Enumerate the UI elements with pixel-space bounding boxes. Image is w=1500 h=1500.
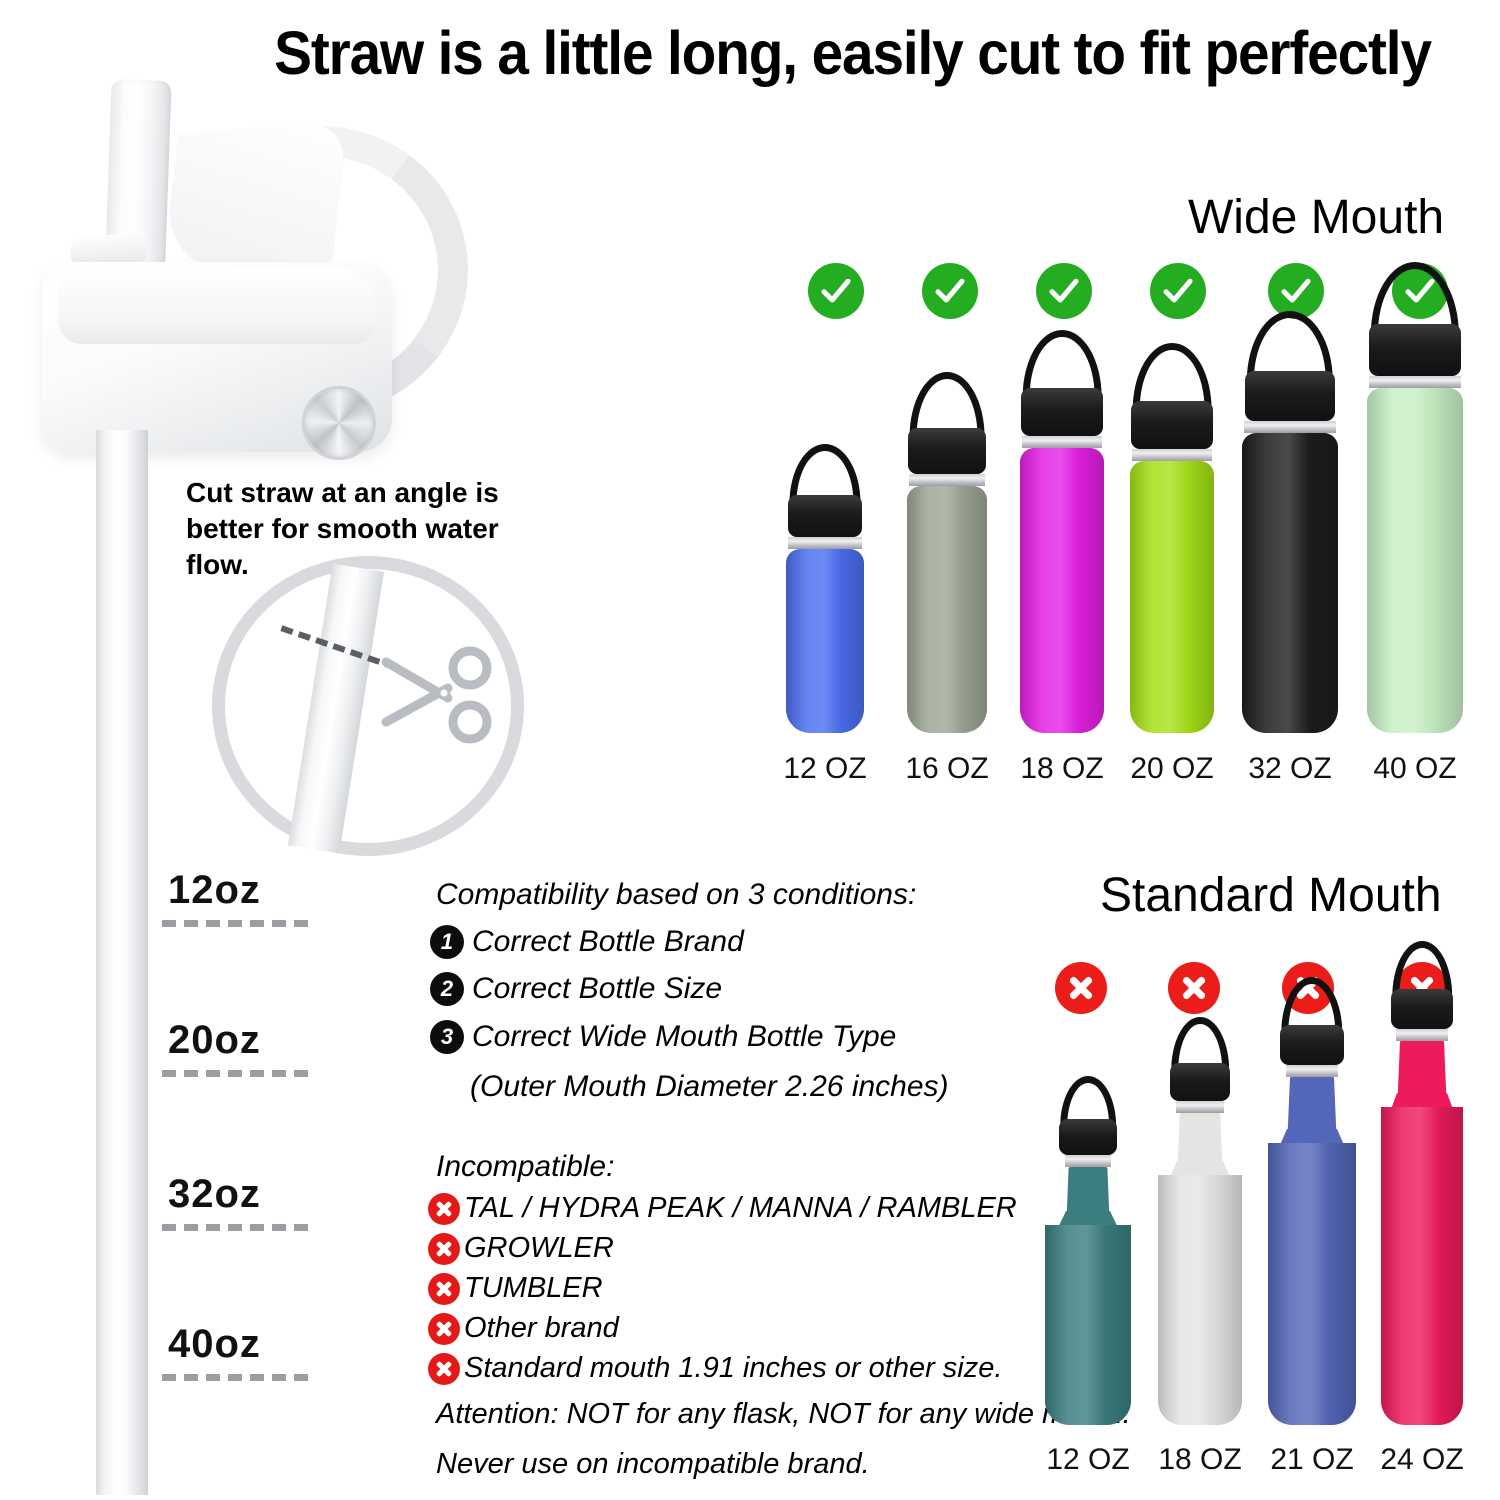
- bottle-size-label: 32 OZ: [1220, 752, 1360, 786]
- bottle-collar: [1369, 376, 1461, 388]
- cut-instruction-line1: Cut straw at an angle is: [186, 475, 546, 511]
- bottle-collar: [1244, 421, 1336, 433]
- incompatible-label: Other brand: [464, 1312, 619, 1345]
- condition-label: Correct Bottle Brand: [472, 925, 744, 959]
- bottle: [1325, 173, 1500, 733]
- bottle-size-label: 24 OZ: [1352, 1443, 1492, 1477]
- straw-mark-label: 40oz: [168, 1322, 261, 1367]
- straw-tube-long: [96, 430, 148, 1495]
- bottle-cap: [1059, 1119, 1117, 1155]
- bottle-collar: [1286, 1065, 1338, 1077]
- condition-label: Correct Wide Mouth Bottle Type: [472, 1020, 896, 1054]
- incompatible-heading: Incompatible:: [436, 1150, 614, 1184]
- compatibility-heading: Compatibility based on 3 conditions:: [436, 878, 916, 912]
- condition-number-badge: 3: [430, 1020, 464, 1054]
- bottle-cap: [1170, 1063, 1230, 1101]
- cross-icon: [428, 1233, 460, 1265]
- bottle-collar: [1176, 1101, 1224, 1113]
- cross-icon: [428, 1353, 460, 1385]
- condition-label: Correct Bottle Size: [472, 972, 722, 1006]
- lid-flip-cover: [163, 121, 347, 274]
- condition-row: 3Correct Wide Mouth Bottle Type: [430, 1020, 896, 1054]
- infographic-canvas: Straw is a little long, easily cut to fi…: [0, 0, 1500, 1500]
- incompatible-label: Standard mouth 1.91 inches or other size…: [464, 1352, 1002, 1385]
- straw-mark-dash: [162, 920, 308, 927]
- condition-number-badge: 2: [430, 972, 464, 1006]
- incompatible-item: TUMBLER: [428, 1272, 603, 1305]
- incompatible-label: GROWLER: [464, 1232, 614, 1265]
- bottle-collar: [1065, 1155, 1111, 1167]
- bottle-collar: [1396, 1029, 1448, 1041]
- straw-mark-label: 12oz: [168, 868, 261, 913]
- bottle-size-label: 40 OZ: [1345, 752, 1485, 786]
- straw-mark-dash: [162, 1374, 308, 1381]
- bottle-body: [786, 549, 864, 733]
- bottle-body: [1367, 388, 1463, 733]
- bottle-size-label: 12 OZ: [755, 752, 895, 786]
- cross-icon: [428, 1273, 460, 1305]
- bottle-cap: [1245, 371, 1335, 421]
- incompatible-item: Other brand: [428, 1312, 619, 1345]
- bottle-cap: [788, 495, 862, 537]
- compatibility-note: (Outer Mouth Diameter 2.26 inches): [470, 1070, 949, 1104]
- condition-number-badge: 1: [430, 925, 464, 959]
- lid-top-surface: [58, 268, 376, 344]
- straw-mark-dash: [162, 1224, 308, 1231]
- cross-icon: [428, 1193, 460, 1225]
- incompatible-item: Standard mouth 1.91 inches or other size…: [428, 1352, 1002, 1385]
- incompatible-label: TAL / HYDRA PEAK / MANNA / RAMBLER: [464, 1192, 1017, 1225]
- bottle-collar: [788, 537, 862, 549]
- incompatible-item: GROWLER: [428, 1232, 614, 1265]
- bottle-cap: [1369, 324, 1461, 376]
- bottle-cap: [1391, 989, 1453, 1029]
- lid-release-button-icon: [302, 386, 376, 460]
- bottle-body: [1381, 1107, 1463, 1425]
- attention-line-2: Never use on incompatible brand.: [436, 1448, 870, 1481]
- straw-lid-illustration: [20, 40, 460, 470]
- scissors-icon: [378, 640, 498, 750]
- incompatible-label: TUMBLER: [464, 1272, 603, 1305]
- straw-mark-label: 20oz: [168, 1018, 261, 1063]
- incompatible-item: TAL / HYDRA PEAK / MANNA / RAMBLER: [428, 1192, 1017, 1225]
- condition-row: 1Correct Bottle Brand: [430, 925, 744, 959]
- bottle: [1332, 865, 1500, 1425]
- straw-mark-label: 32oz: [168, 1172, 261, 1217]
- cross-icon: [428, 1313, 460, 1345]
- straw-mark-dash: [162, 1070, 308, 1077]
- bottle-body: [1242, 433, 1338, 733]
- condition-row: 2Correct Bottle Size: [430, 972, 722, 1006]
